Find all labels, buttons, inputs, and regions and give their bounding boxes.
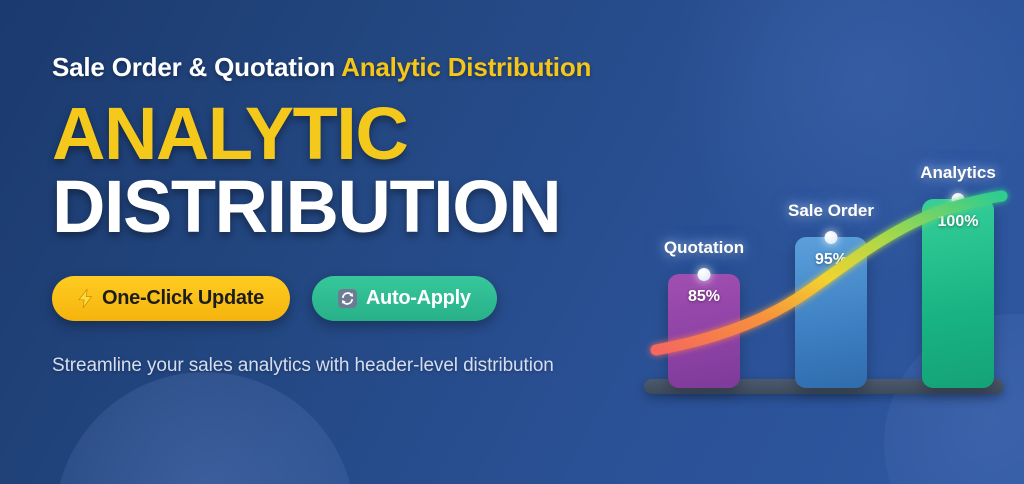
bar-analytics[interactable]: Analytics 100% bbox=[922, 199, 994, 388]
banner-tagline: Streamline your sales analytics with hea… bbox=[52, 355, 702, 377]
decorative-circle-bottom-left bbox=[55, 372, 355, 484]
bar-value-quotation: 85% bbox=[668, 288, 740, 306]
bar-value-sale-order: 95% bbox=[795, 251, 867, 269]
page-title: ANALYTIC DISTRIBUTION bbox=[52, 97, 702, 244]
bar-label-analytics: Analytics bbox=[920, 163, 996, 183]
bar-marker-dot-analytics bbox=[952, 193, 965, 206]
bar-label-sale-order: Sale Order bbox=[788, 201, 874, 221]
banner-content: Sale Order & Quotation Analytic Distribu… bbox=[52, 52, 702, 377]
cta-button-row: One-Click Update Auto-Apply bbox=[52, 276, 702, 321]
bar-label-quotation: Quotation bbox=[664, 238, 744, 258]
eyebrow-plain-text: Sale Order & Quotation bbox=[52, 52, 341, 82]
chart-bars: Quotation 85% Sale Order 95% Analytics 1… bbox=[640, 178, 1024, 388]
sync-refresh-icon bbox=[338, 289, 357, 308]
headline-line-2: DISTRIBUTION bbox=[52, 170, 702, 243]
bar-sale-order[interactable]: Sale Order 95% bbox=[795, 237, 867, 388]
headline-line-1: ANALYTIC bbox=[52, 97, 702, 170]
bar-group-quotation[interactable]: Quotation 85% bbox=[668, 274, 740, 388]
bar-value-analytics: 100% bbox=[922, 213, 994, 231]
one-click-update-button[interactable]: One-Click Update bbox=[52, 276, 290, 321]
eyebrow-accent-text: Analytic Distribution bbox=[341, 52, 591, 82]
bar-group-analytics[interactable]: Analytics 100% bbox=[922, 199, 994, 388]
bar-group-sale-order[interactable]: Sale Order 95% bbox=[795, 237, 867, 388]
auto-apply-label: Auto-Apply bbox=[366, 287, 471, 310]
lightning-bolt-icon bbox=[78, 289, 93, 308]
bar-marker-dot-sale-order bbox=[825, 231, 838, 244]
banner-eyebrow: Sale Order & Quotation Analytic Distribu… bbox=[52, 52, 702, 83]
auto-apply-button[interactable]: Auto-Apply bbox=[312, 276, 497, 321]
analytic-distribution-banner: Sale Order & Quotation Analytic Distribu… bbox=[0, 0, 1024, 484]
analytics-bar-chart: Quotation 85% Sale Order 95% Analytics 1… bbox=[640, 178, 1024, 418]
one-click-update-label: One-Click Update bbox=[102, 287, 264, 310]
bar-marker-dot-quotation bbox=[698, 268, 711, 281]
bar-quotation[interactable]: Quotation 85% bbox=[668, 274, 740, 388]
